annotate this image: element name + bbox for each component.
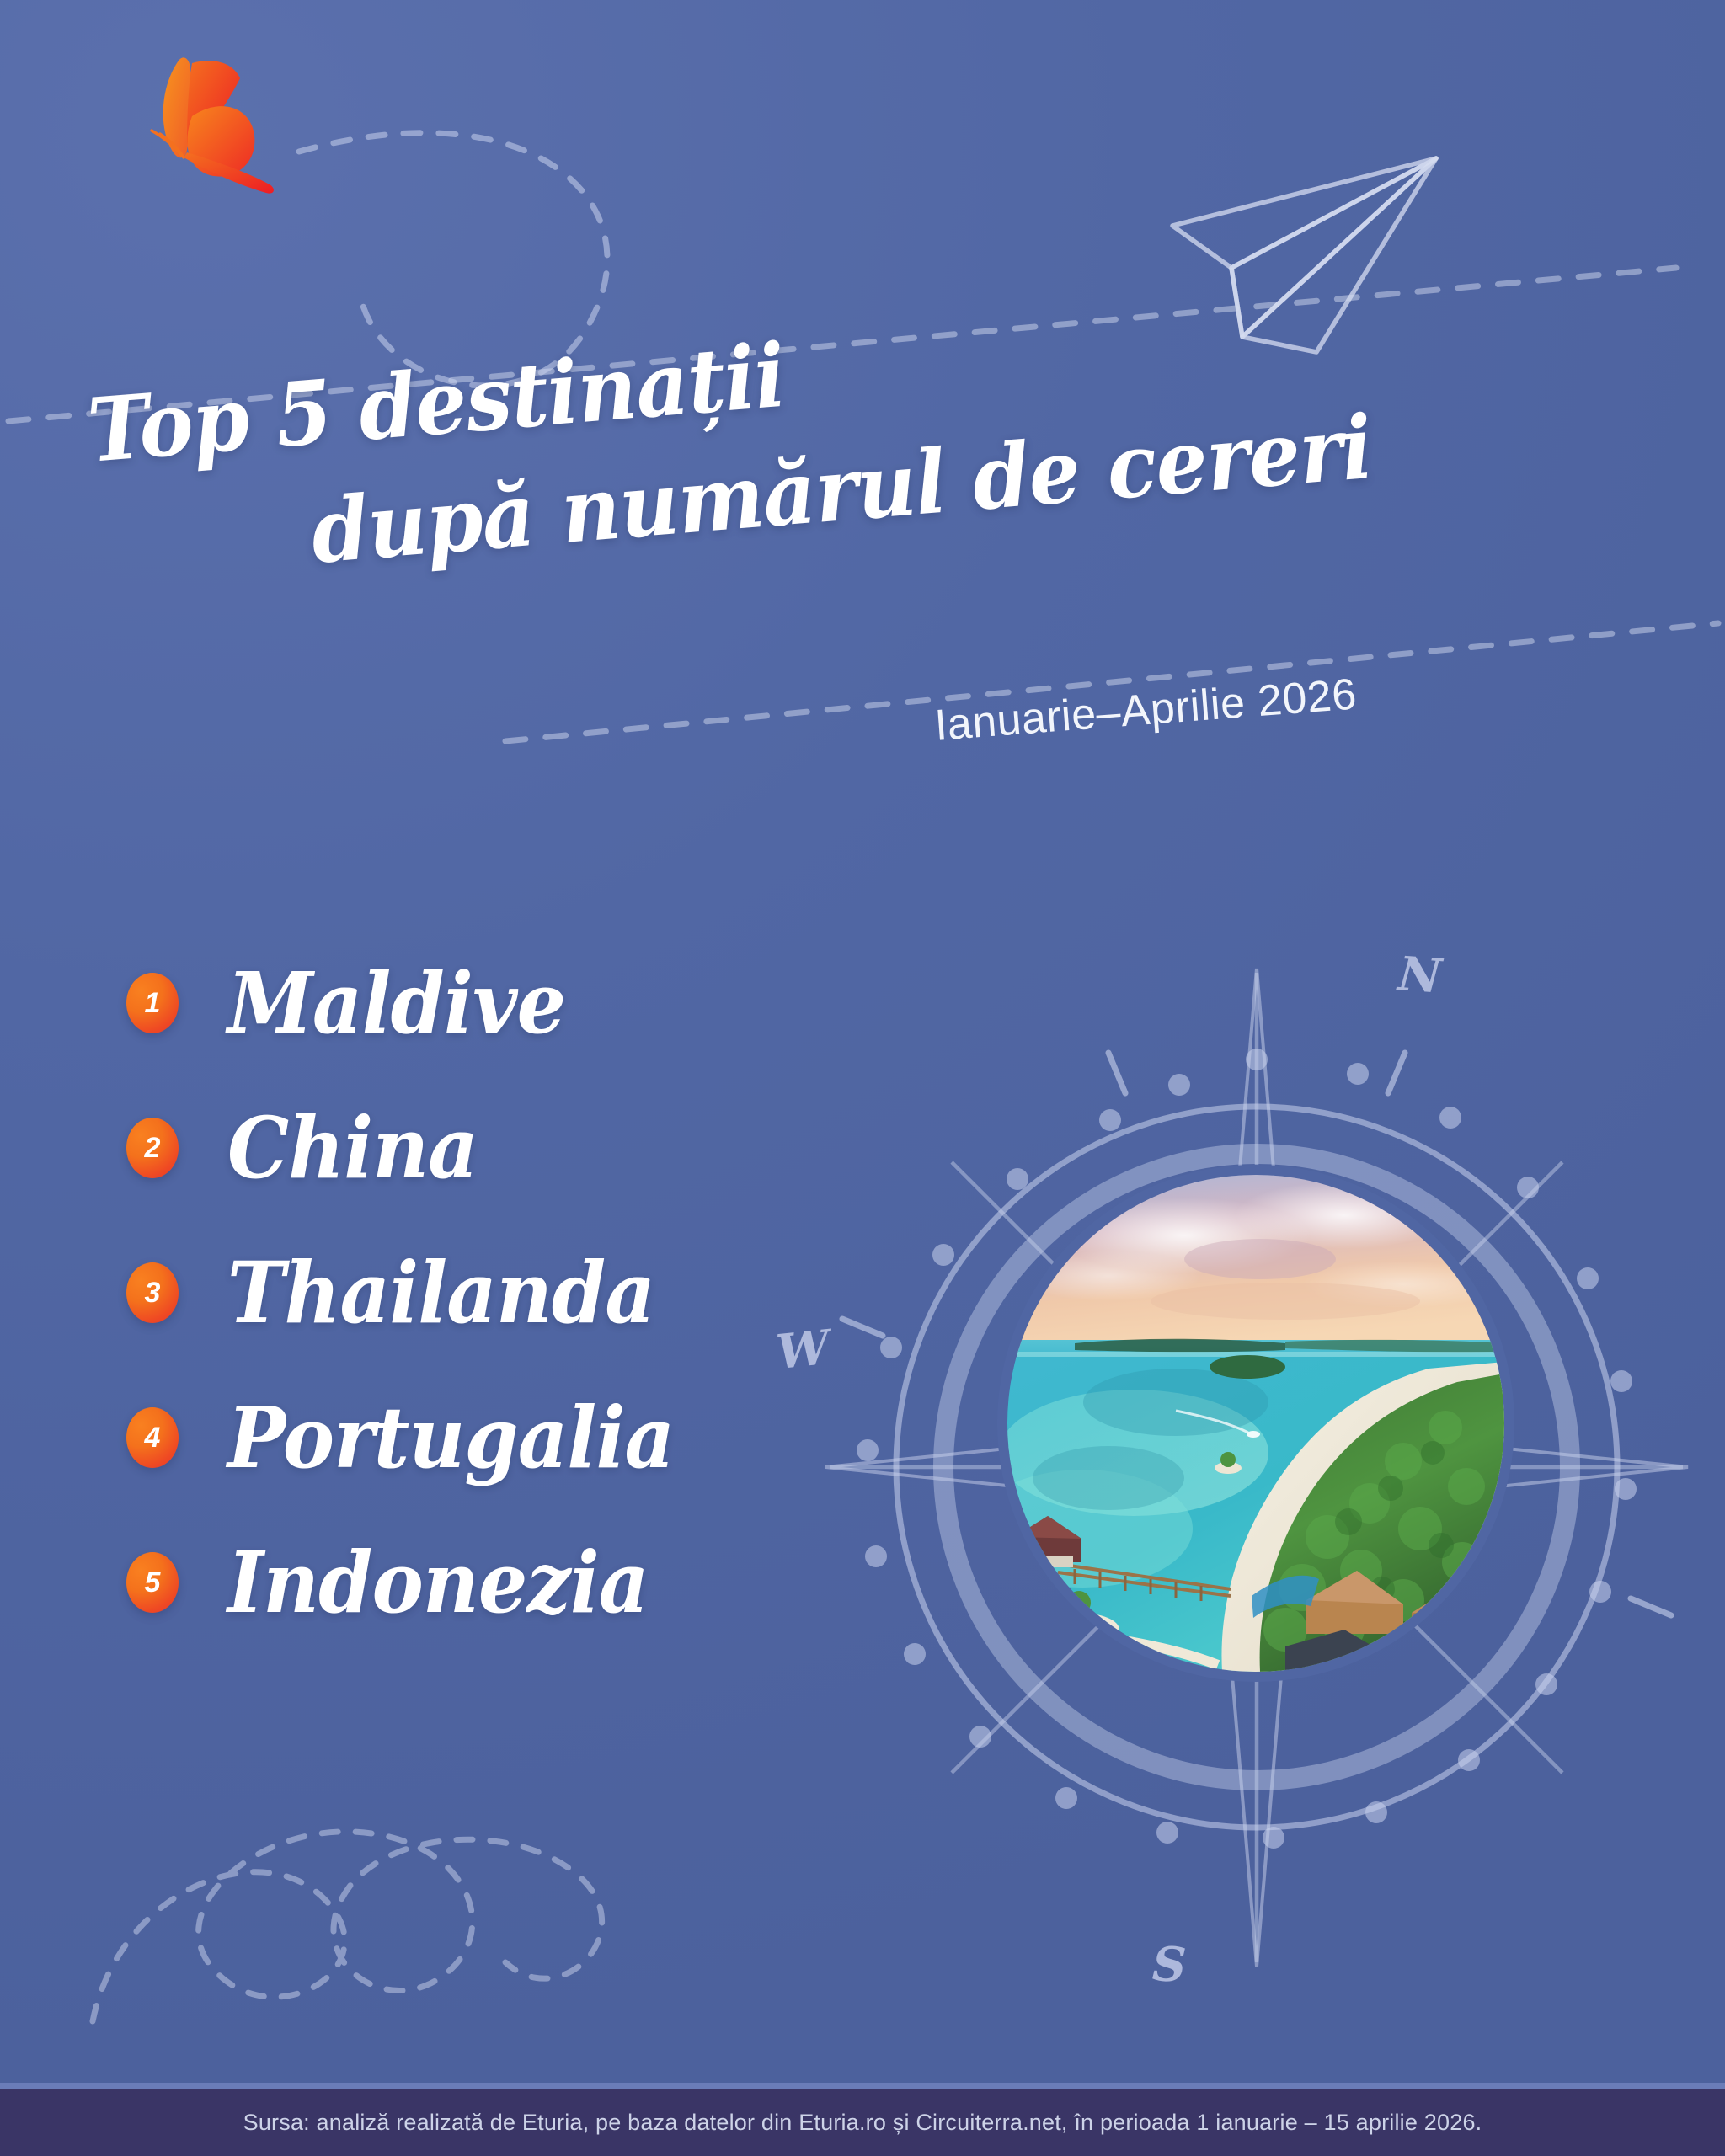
compass-south-label: S [1151,1936,1188,1993]
tropical-island-aerial-photo [1007,1175,1504,1672]
list-item: 1 Maldive [126,931,969,1075]
list-item: 3 Thailanda [126,1220,969,1365]
destination-name: China [227,1098,478,1198]
rank-badge: 1 [126,973,179,1033]
footer-divider [0,2083,1725,2089]
source-note: Sursa: analiză realizată de Eturia, pe b… [243,2110,1482,2136]
infographic-poster: Top 5 destinații după numărul de cereri … [0,0,1725,2156]
rank-badge: 4 [126,1407,179,1468]
list-item: 2 China [126,1075,969,1220]
dashed-loop-line [93,1832,602,2021]
paper-plane-icon [1172,158,1436,352]
page-title: Top 5 destinații după numărul de cereri [0,371,1693,648]
destination-name: Portugalia [227,1388,674,1487]
list-item: 4 Portugalia [126,1365,969,1510]
list-item: 5 Indonezia [126,1510,969,1655]
compass-west-label: W [774,1320,832,1380]
destination-name: Indonezia [227,1533,649,1632]
footer-bar: Sursa: analiză realizată de Eturia, pe b… [0,2089,1725,2156]
rank-badge: 5 [126,1552,179,1613]
subtitle-period: Ianuarie–Aprilie 2026 [933,669,1359,750]
compass-north-label: N [1397,946,1444,1004]
ranking-list: 1 Maldive 2 China 3 Thailanda 4 Portugal… [126,931,969,1655]
destination-name: Maldive [227,953,565,1053]
destination-name: Thailanda [227,1243,654,1342]
butterfly-logo [126,38,303,202]
rank-badge: 3 [126,1262,179,1323]
rank-badge: 2 [126,1118,179,1178]
destination-photo [1007,1175,1504,1672]
